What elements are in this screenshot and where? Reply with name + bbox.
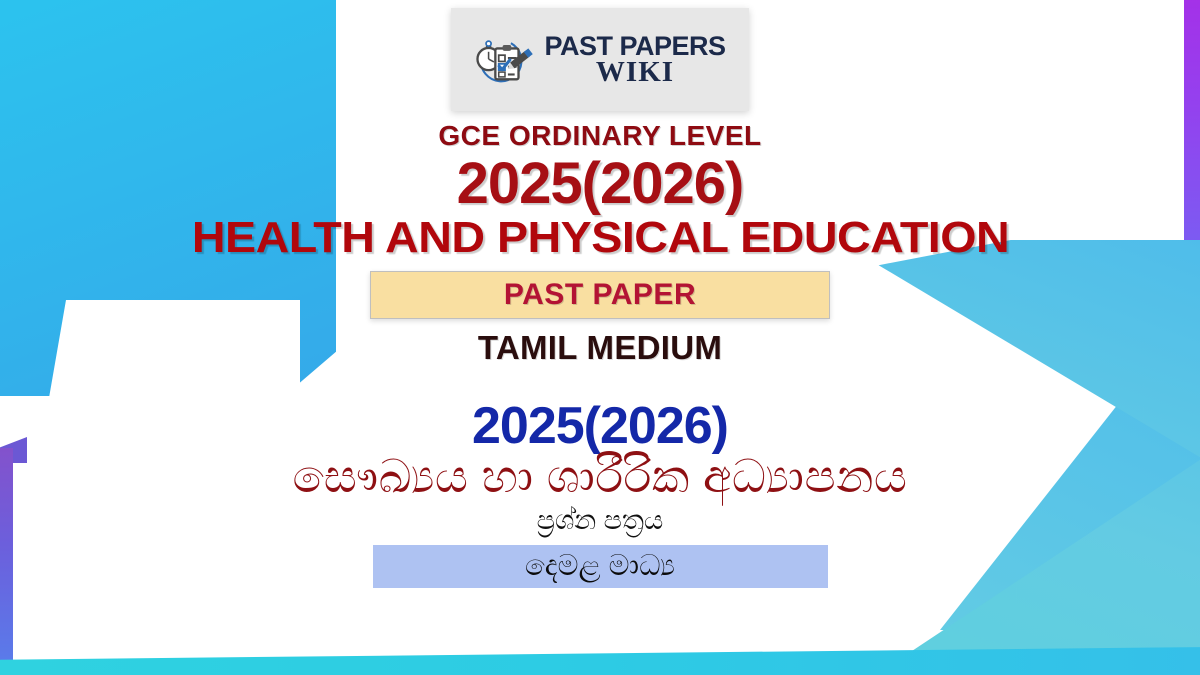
poster-content: PAST PAPERS WIKI GCE ORDINARY LEVEL 2025… [0,0,1200,675]
medium-label-english: TAMIL MEDIUM [478,329,722,367]
exam-year-english: 2025(2026) [457,154,744,213]
subject-title-sinhala: සෞඛ්‍යය හා ශාරීරික අධ්‍යාපනය [292,451,907,503]
poster-canvas: PAST PAPERS WIKI GCE ORDINARY LEVEL 2025… [0,0,1200,675]
logo-line-2: WIKI [596,59,674,86]
exam-year-sinhala: 2025(2026) [472,399,728,453]
medium-banner-sinhala: දෙමළ මාධ්‍ය [373,545,828,588]
stopwatch-clipboard-pencil-logo-icon [474,32,536,88]
logo-line-1: PAST PAPERS [544,34,725,59]
exam-level-kicker: GCE ORDINARY LEVEL [438,120,761,152]
past-paper-banner-label: PAST PAPER [504,278,696,312]
paper-type-sinhala: ප්‍රශ්න පත්‍රය [537,505,664,536]
site-logo-wordmark: PAST PAPERS WIKI [544,34,725,86]
subject-title-english: HEALTH AND PHYSICAL EDUCATION [191,215,1008,261]
past-paper-banner: PAST PAPER [370,271,830,319]
site-logo-panel: PAST PAPERS WIKI [451,8,749,111]
medium-banner-sinhala-label: දෙමළ මාධ්‍ය [525,550,675,583]
